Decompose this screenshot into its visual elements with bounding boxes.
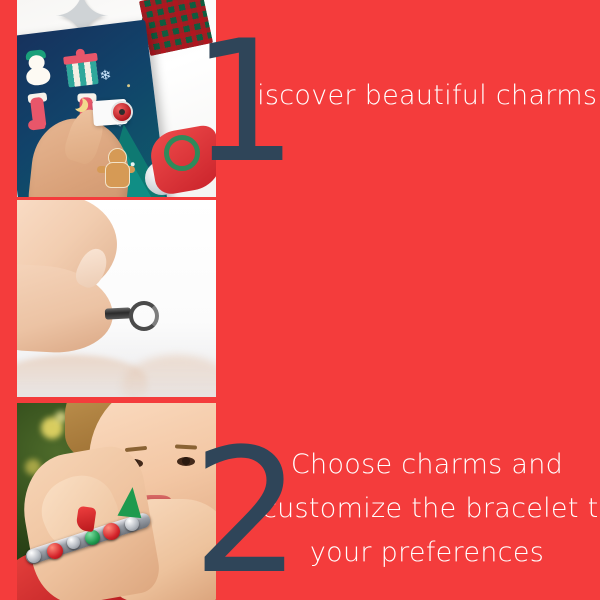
caption-line: Choose charms and [262, 443, 592, 487]
step-caption-2: Choose charms and customize the bracelet… [262, 443, 592, 575]
caption-line: customize the bracelet to [262, 487, 592, 531]
stocking-illustration [27, 88, 52, 130]
promo-poster: ✦ ❄ ❄ [0, 0, 600, 600]
red-charm-bead [113, 103, 131, 121]
photo-advent-calendar: ✦ ❄ ❄ [17, 0, 216, 197]
snowman-illustration [23, 54, 52, 87]
green-bead [85, 530, 100, 545]
snow-dot [127, 84, 130, 87]
photo-charm-clasp [17, 200, 216, 397]
step-number-1: 1 [191, 18, 292, 186]
snowflake-icon: ❄ [99, 70, 112, 80]
step-row-2: 2 Choose charms and customize the bracel… [0, 200, 600, 397]
step-row-1: ✦ ❄ ❄ [0, 0, 600, 197]
metal-clasp [105, 307, 132, 319]
gingerbread-man-decoration [101, 148, 131, 194]
tree-charm [117, 486, 144, 518]
silver-bead [125, 517, 139, 531]
caption-line: your preferences [262, 531, 592, 575]
step-number-2: 2 [192, 426, 301, 598]
red-bead [103, 523, 120, 540]
silver-bead [67, 536, 80, 549]
gift-illustration [65, 50, 99, 87]
silver-bead [27, 549, 41, 563]
jump-ring [129, 301, 159, 331]
photo-girl-wearing-bracelet [17, 403, 216, 600]
red-bead [47, 543, 63, 559]
